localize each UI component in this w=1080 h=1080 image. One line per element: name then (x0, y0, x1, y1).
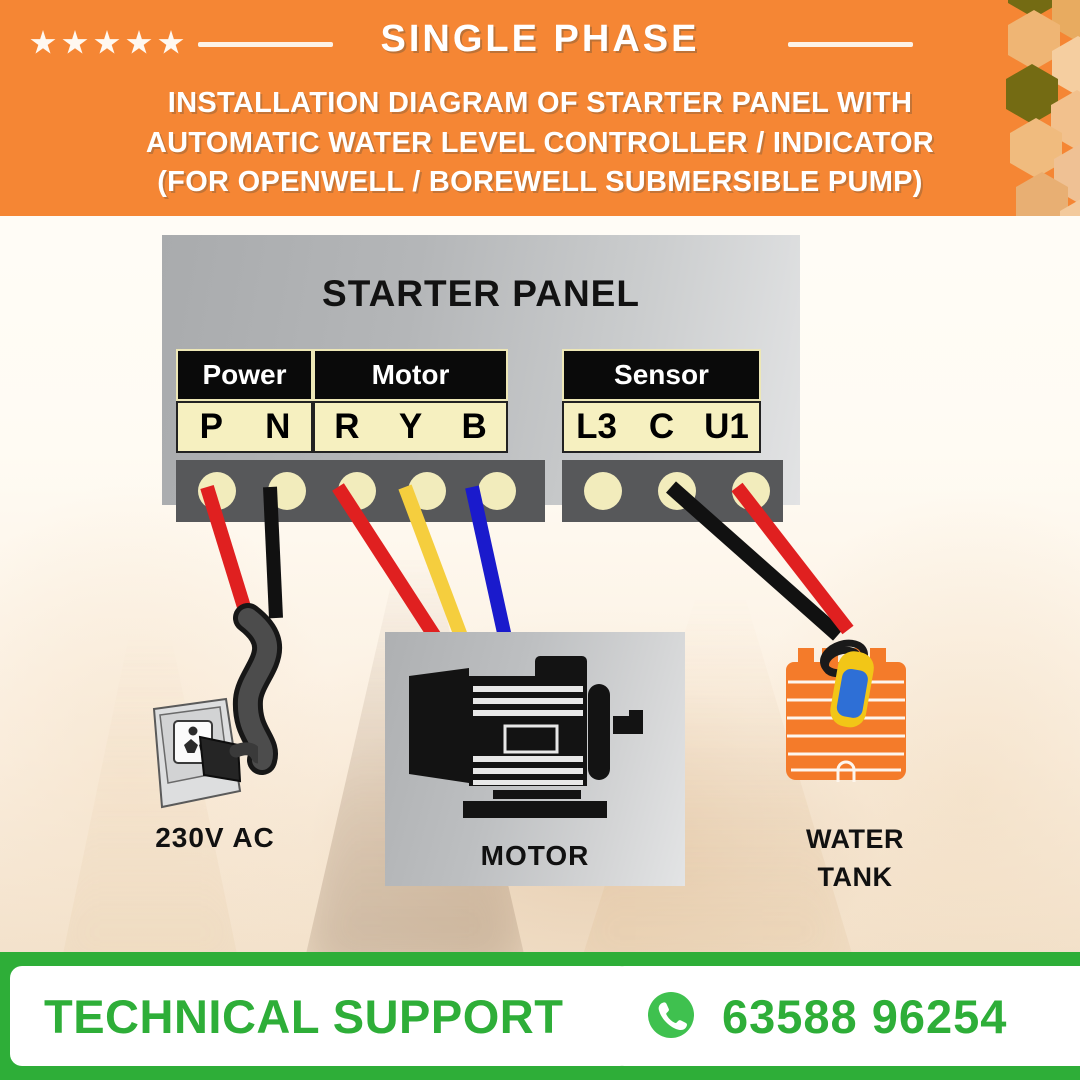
motor-illustration-box: MOTOR (385, 632, 685, 886)
wire-power-p-red (207, 487, 248, 620)
technical-support-label: TECHNICAL SUPPORT (44, 989, 563, 1044)
technical-support-card[interactable]: TECHNICAL SUPPORT (10, 966, 632, 1066)
tank-label-line-1: WATER (760, 820, 950, 858)
tank-label-line-2: TANK (760, 858, 950, 896)
whatsapp-phone-number: 63588 96254 (722, 989, 1007, 1044)
electric-motor-icon (385, 638, 685, 848)
water-tank-float-switch-icon (780, 630, 925, 810)
supply-voltage-label: 230V AC (120, 822, 310, 854)
wire-power-n-black (270, 487, 276, 618)
motor-label: MOTOR (385, 840, 685, 872)
whatsapp-icon (640, 985, 702, 1047)
wall-socket-plug-icon (148, 695, 258, 815)
whatsapp-contact-card[interactable]: 63588 96254 (612, 966, 1080, 1066)
diagram-canvas: SINGLE PHASE INSTALLATION DIAGRAM OF STA… (0, 0, 1080, 1080)
water-tank-label: WATER TANK (760, 820, 950, 897)
wiring-layer (0, 0, 1080, 1080)
footer-bar: TECHNICAL SUPPORT 63588 96254 (0, 952, 1080, 1080)
